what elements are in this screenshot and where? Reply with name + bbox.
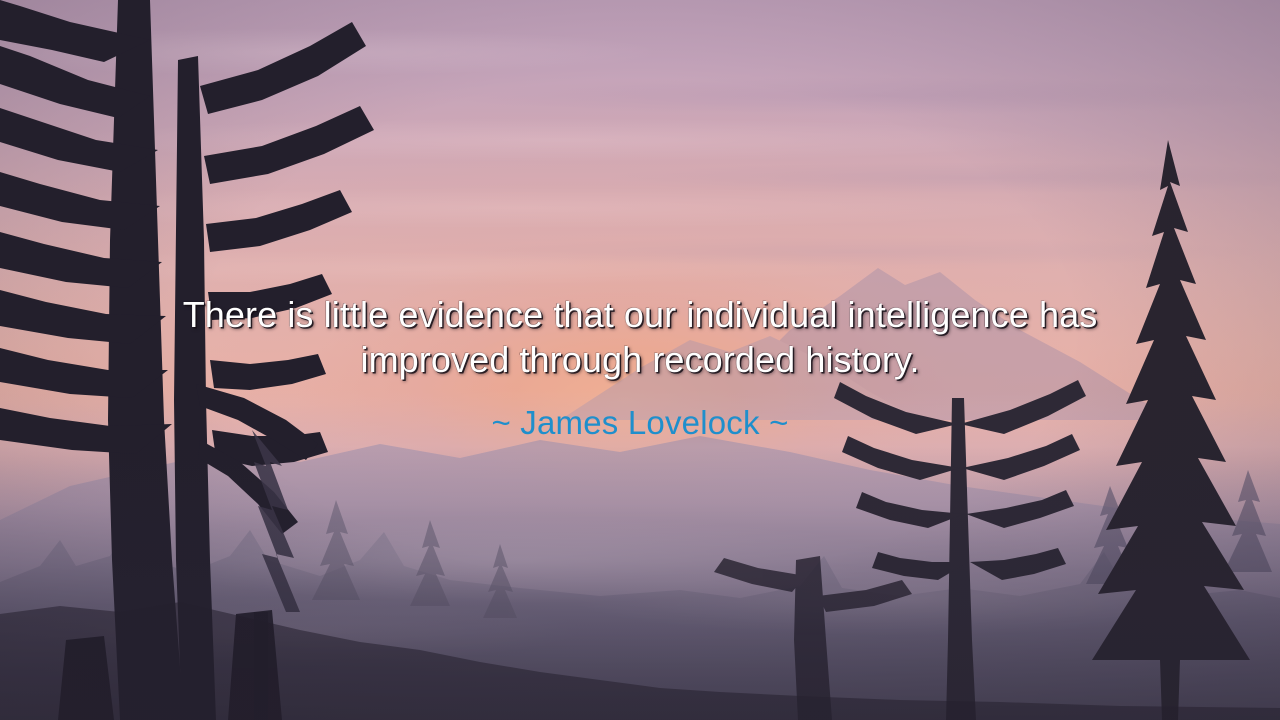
quote-image-canvas: There is little evidence that our indivi… — [0, 0, 1280, 720]
quote-author: ~ James Lovelock ~ — [24, 382, 1256, 442]
quote-overlay: There is little evidence that our indivi… — [0, 292, 1280, 442]
quote-text: There is little evidence that our indivi… — [105, 292, 1175, 382]
